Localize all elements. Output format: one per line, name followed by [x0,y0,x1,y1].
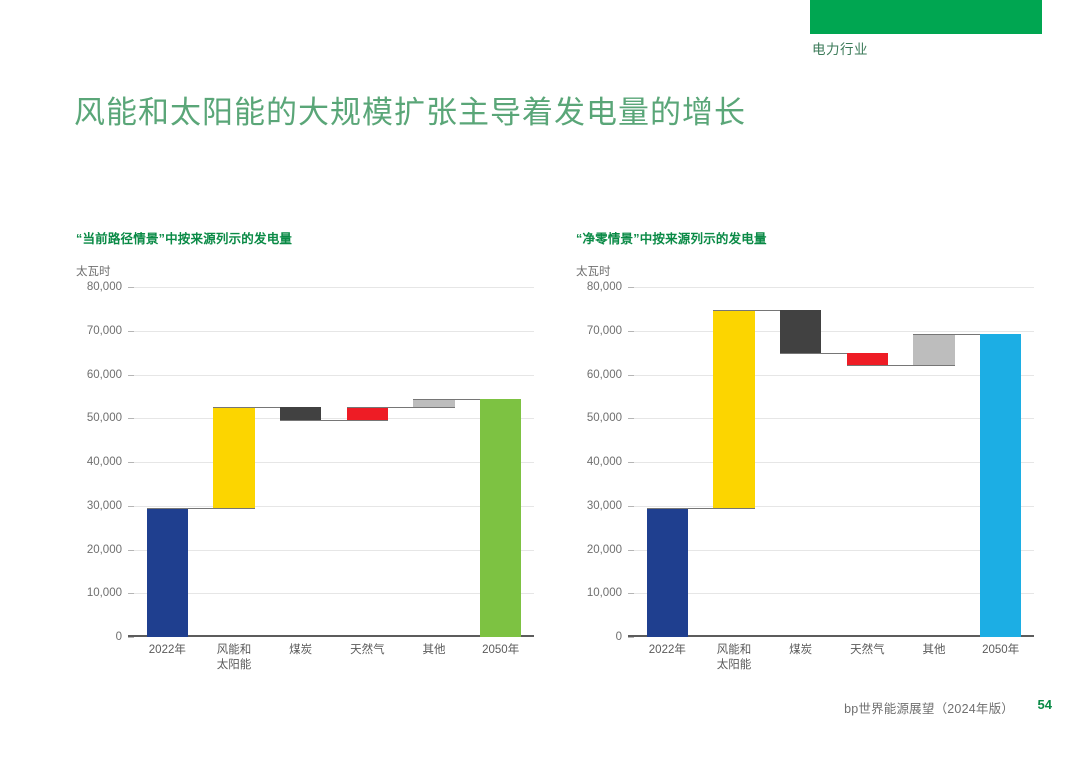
x-axis-line-right [628,635,1034,637]
waterfall-bar [847,353,888,366]
waterfall-bar [347,407,388,420]
y-axis-tick-label: 80,000 [87,281,122,293]
y-axis-tick-label: 0 [116,631,122,643]
waterfall-bar [647,508,688,637]
waterfall-bar [713,310,754,508]
footer-page-number: 54 [1038,697,1052,712]
y-axis-tick-label: 70,000 [587,325,622,337]
y-axis-tick-label: 40,000 [587,456,622,468]
y-axis-tick-label: 70,000 [87,325,122,337]
waterfall-bar [413,399,454,407]
waterfall-connector [847,365,955,366]
waterfall-bar [480,399,521,637]
y-axis-tick-label: 10,000 [587,587,622,599]
x-axis-labels-right: 2022年风能和 太阳能煤炭天然气其他2050年 [634,643,1034,687]
y-axis-tick-label: 30,000 [587,500,622,512]
chart-panel-net-zero: “净零情景”中按来源列示的发电量 太瓦时 010,00020,00030,000… [576,228,1056,698]
gridline [634,506,1034,507]
y-axis-tick [128,637,134,638]
waterfall-connector [147,508,255,509]
waterfall-connector [647,508,755,509]
footer-source: bp世界能源展望（2024年版） [844,698,1014,717]
waterfall-bar [147,508,188,637]
y-axis-tick-label: 40,000 [87,456,122,468]
gridline [134,418,534,419]
y-axis-tick-label: 50,000 [87,412,122,424]
y-axis-tick-label: 10,000 [87,587,122,599]
y-axis-tick [628,637,634,638]
waterfall-bar [280,407,321,420]
gridline [634,462,1034,463]
gridline [134,375,534,376]
waterfall-bar [913,334,954,365]
header-category-label: 电力行业 [812,38,868,58]
gridline [634,593,1034,594]
gridline [134,550,534,551]
waterfall-bars-left [134,287,534,637]
y-axis-tick-label: 50,000 [587,412,622,424]
y-axis-tick-label: 0 [616,631,622,643]
y-axis-unit-left: 太瓦时 [76,263,556,279]
gridline [634,375,1034,376]
waterfall-connector [347,407,455,408]
waterfall-bar [780,310,821,353]
gridline [634,287,1034,288]
y-axis-tick-label: 60,000 [587,369,622,381]
slide: 电力行业 风能和太阳能的大规模扩张主导着发电量的增长 “当前路径情景”中按来源列… [0,0,1080,761]
x-axis-tick-label: 2050年 [955,643,1046,658]
y-axis-tick-label: 20,000 [87,544,122,556]
y-axis-unit-right: 太瓦时 [576,263,1056,279]
gridline [134,593,534,594]
x-axis-line-left [128,635,534,637]
plot-area-right: 010,00020,00030,00040,00050,00060,00070,… [576,287,1056,677]
page-title: 风能和太阳能的大规模扩张主导着发电量的增长 [74,91,746,135]
y-axis-tick-label: 60,000 [87,369,122,381]
gridline [134,462,534,463]
y-axis-labels-left: 010,00020,00030,00040,00050,00060,00070,… [76,287,128,637]
gridline [134,331,534,332]
plot-area-left: 010,00020,00030,00040,00050,00060,00070,… [76,287,556,677]
gridline [134,287,534,288]
y-axis-tick-label: 30,000 [87,500,122,512]
chart-title-net-zero: “净零情景”中按来源列示的发电量 [576,228,1056,247]
x-axis-labels-left: 2022年风能和 太阳能煤炭天然气其他2050年 [134,643,534,687]
y-axis-tick-label: 20,000 [587,544,622,556]
chart-panel-current-trajectory: “当前路径情景”中按来源列示的发电量 太瓦时 010,00020,00030,0… [76,228,556,698]
waterfall-bars-right [634,287,1034,637]
waterfall-bar [980,334,1021,637]
gridline [634,331,1034,332]
y-axis-tick-label: 80,000 [587,281,622,293]
gridline [634,550,1034,551]
header-accent-bar [810,0,1042,34]
y-axis-labels-right: 010,00020,00030,00040,00050,00060,00070,… [576,287,628,637]
gridline [134,506,534,507]
waterfall-connector [280,420,388,421]
waterfall-bar [213,407,254,508]
gridline [634,418,1034,419]
x-axis-tick-label: 2050年 [455,643,546,658]
chart-title-current-trajectory: “当前路径情景”中按来源列示的发电量 [76,228,556,247]
